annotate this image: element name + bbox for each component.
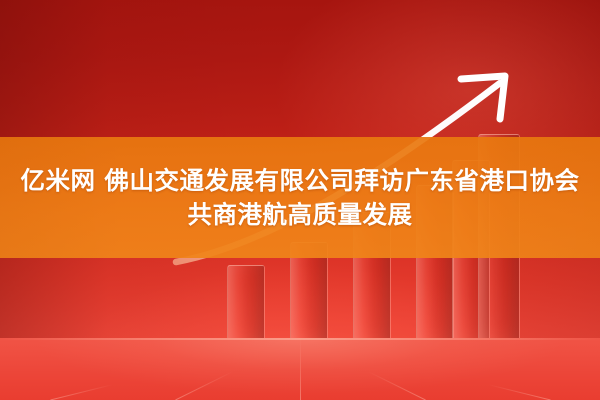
floor-grid-line: [50, 384, 112, 400]
caption-block: 亿米网 佛山交通发展有限公司拜访广东省港口协会 共商港航高质量发展: [0, 137, 600, 258]
floor-grid-line: [488, 384, 550, 400]
chart-bar-face: [228, 266, 264, 339]
floor-grid-line: [300, 338, 301, 400]
floor-grid-line: [175, 371, 233, 400]
caption-line-2: 共商港航高质量发展: [188, 201, 413, 228]
banner-image: 亿米网 佛山交通发展有限公司拜访广东省港口协会 共商港航高质量发展: [0, 0, 600, 400]
floor-grid-line: [368, 371, 426, 400]
caption-line-1: 亿米网 佛山交通发展有限公司拜访广东省港口协会: [20, 167, 579, 194]
chart-bar: [227, 265, 265, 339]
floor-horizon-line: [0, 338, 600, 340]
perspective-floor: [0, 338, 600, 400]
